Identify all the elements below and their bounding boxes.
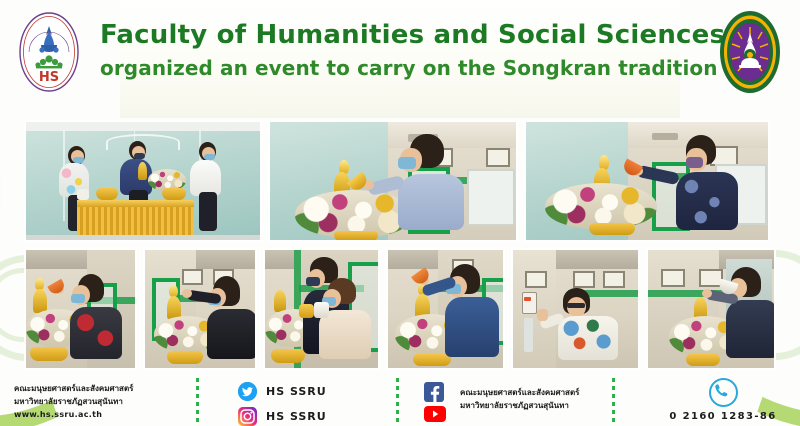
- footer-address-block: คณะมนุษยศาสตร์และสังคมศาสตร์ มหาวิทยาลัย…: [14, 382, 194, 426]
- poster-footer: คณะมนุษยศาสตร์และสังคมศาสตร์ มหาวิทยาลัย…: [0, 376, 800, 426]
- page-name-faculty: คณะมนุษยศาสตร์และสังคมศาสตร์: [460, 386, 579, 399]
- footer-page-block: คณะมนุษยศาสตร์และสังคมศาสตร์ มหาวิทยาลัย…: [424, 380, 609, 426]
- instagram-handle: HS SSRU: [266, 410, 327, 423]
- photo-woman-red-scarf-pouring-water[interactable]: [24, 248, 137, 370]
- social-twitter[interactable]: HS SSRU: [238, 380, 388, 403]
- hs-logo-monogram: HS: [39, 70, 59, 85]
- instagram-icon: [238, 407, 257, 426]
- address-line-faculty: คณะมนุษยศาสตร์และสังคมศาสตร์: [14, 382, 194, 395]
- photo-woman-blue-shirt-pouring-water[interactable]: [386, 248, 505, 370]
- website-url[interactable]: www.hs.ssru.ac.th: [14, 408, 194, 421]
- photo-gallery: [24, 120, 776, 372]
- facebook-icon[interactable]: [424, 382, 444, 406]
- poster-header: HS Faculty of Humanities and Social Scie…: [0, 0, 800, 112]
- footer-social-block: HS SSRU: [238, 380, 388, 426]
- footer-divider-1: [196, 378, 199, 424]
- photo-couple-holding-offering-bowls[interactable]: [263, 248, 380, 370]
- photo-man-floral-shirt-scanning[interactable]: [511, 248, 641, 370]
- title-block: Faculty of Humanities and Social Science…: [100, 18, 700, 82]
- page-name-university: มหาวิทยาลัยราชภัฏสวนสุนันทา: [460, 399, 579, 412]
- youtube-icon[interactable]: [424, 406, 446, 426]
- hs-faculty-logo: HS: [16, 10, 82, 94]
- photo-ceremony-group-three-people[interactable]: [24, 120, 262, 242]
- photo-man-pouring-water-on-buddha[interactable]: [268, 120, 518, 242]
- twitter-handle: HS SSRU: [266, 385, 327, 398]
- phone-number[interactable]: 0 2160 1283-86: [668, 411, 778, 422]
- footer-divider-2: [396, 378, 399, 424]
- page-title: Faculty of Humanities and Social Science…: [100, 18, 700, 52]
- photo-woman-pouring-water-on-buddha[interactable]: [524, 120, 770, 242]
- social-instagram[interactable]: HS SSRU: [238, 405, 388, 426]
- address-line-university: มหาวิทยาลัยราชภัฏสวนสุนันทา: [14, 395, 194, 408]
- phone-icon: [709, 378, 738, 407]
- ssru-university-seal: [718, 9, 782, 95]
- page-subtitle: organized an event to carry on the Songk…: [100, 54, 700, 82]
- photo-woman-navy-vest-pouring-water[interactable]: [646, 248, 776, 370]
- songkran-event-poster: HS Faculty of Humanities and Social Scie…: [0, 0, 800, 426]
- photo-woman-black-suit-pouring-water[interactable]: [143, 248, 256, 370]
- footer-contact-block: 0 2160 1283-86: [668, 378, 778, 422]
- twitter-icon: [238, 382, 257, 401]
- gallery-row-top: [24, 120, 776, 242]
- gallery-row-bottom: [24, 248, 776, 370]
- footer-divider-3: [612, 378, 615, 424]
